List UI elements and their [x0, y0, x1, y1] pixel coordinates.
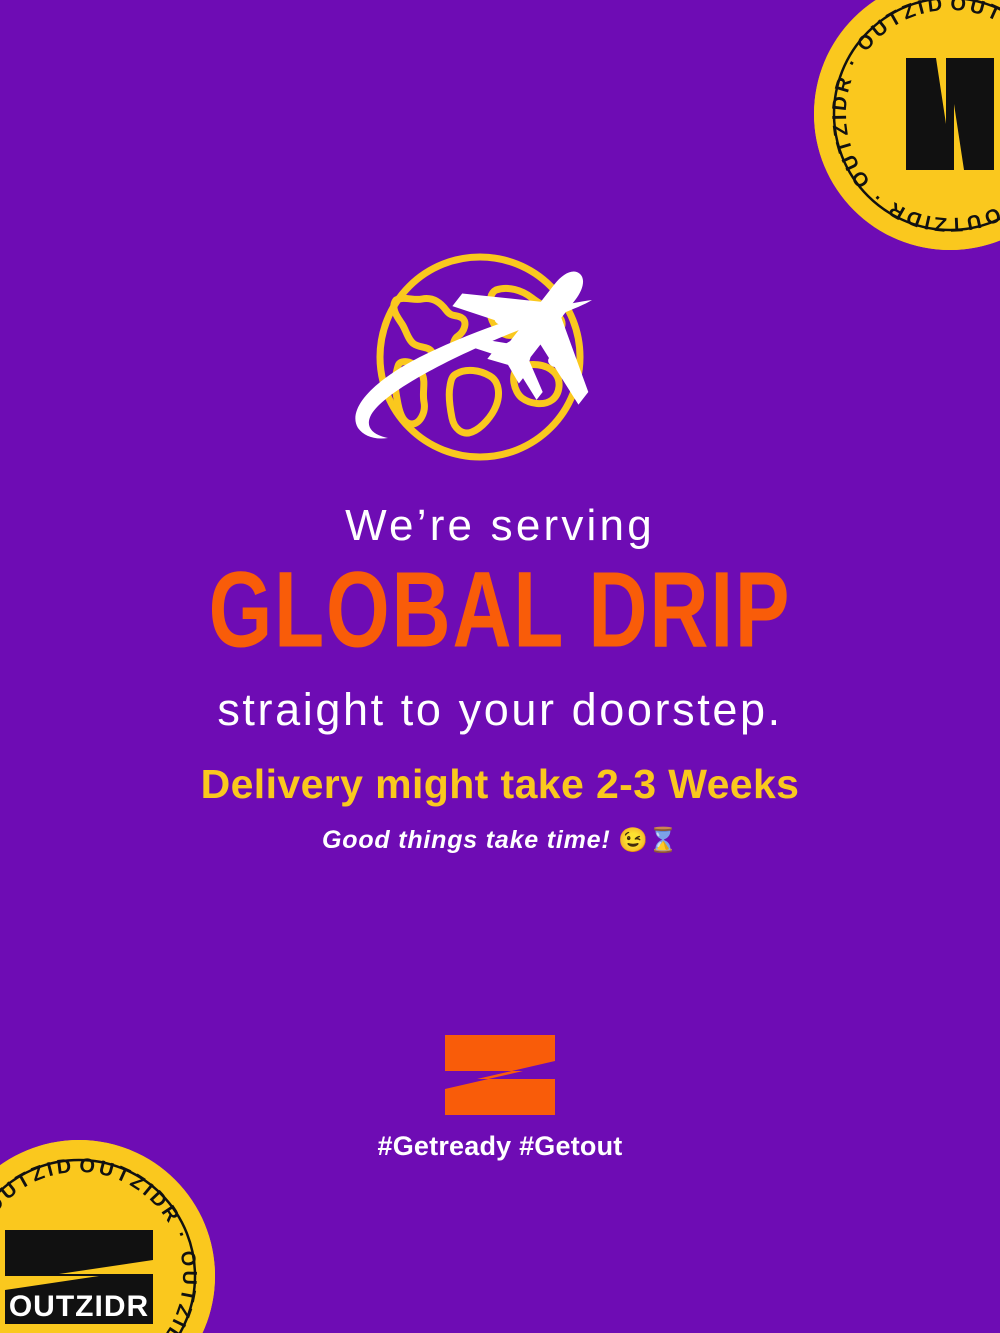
headline-block: We’re serving GLOBAL DRIP straight to yo… [0, 500, 1000, 736]
globe-illustration [0, 252, 1000, 472]
headline-line-2: GLOBAL DRIP [35, 551, 965, 669]
delivery-headline: Delivery might take 2-3 Weeks [0, 760, 1000, 809]
seal-center-z-mark [906, 58, 994, 170]
poster-canvas: OUTZIDR · OUTZIDR · OUTZIDR · OUTZIDR · … [0, 0, 1000, 1333]
delivery-subline-text: Good things take time! [322, 826, 610, 854]
outzidr-seal-bottom-left: OUTZIDR · OUTZIDR · OUTZIDR · OUTZIDR · … [0, 1140, 215, 1333]
delivery-emoji: 😉⌛ [618, 827, 678, 854]
delivery-block: Delivery might take 2-3 Weeks Good thing… [0, 760, 1000, 856]
headline-line-1: We’re serving [0, 500, 1000, 552]
outzidr-seal-top-right: OUTZIDR · OUTZIDR · OUTZIDR · OUTZIDR · … [814, 0, 1000, 250]
seal-wordmark: OUTZIDR [9, 1290, 149, 1323]
delivery-subline: Good things take time! 😉⌛ [0, 825, 1000, 856]
headline-line-3: straight to your doorstep. [0, 683, 1000, 736]
outzidr-z-logo [445, 1035, 555, 1115]
